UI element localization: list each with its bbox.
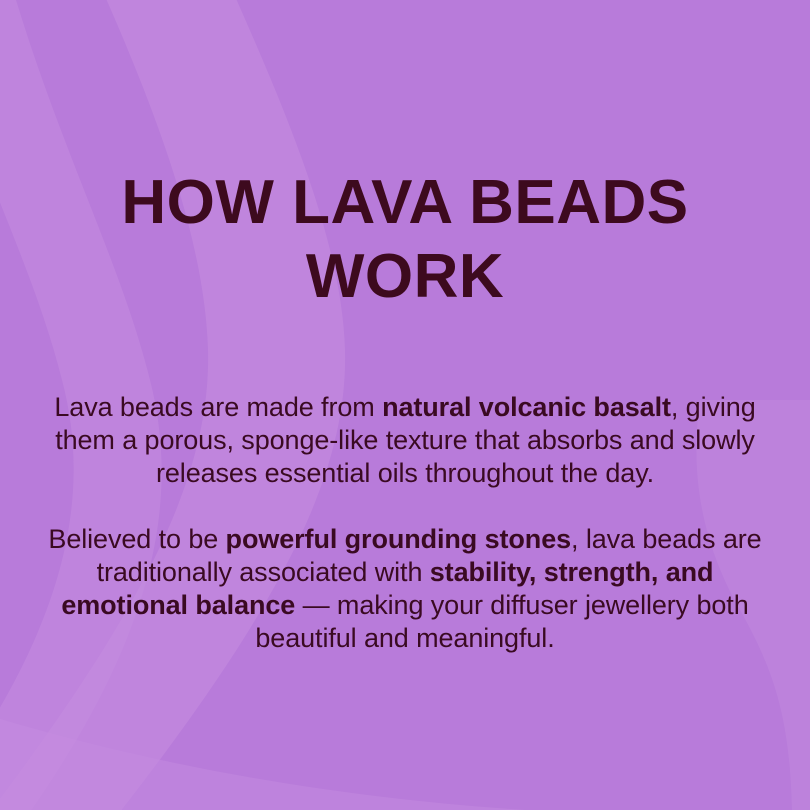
emphasis-run: natural volcanic basalt <box>382 392 671 422</box>
body-copy: Lava beads are made from natural volcani… <box>35 314 775 682</box>
page-title: HOW LAVA BEADS WORK <box>35 0 775 314</box>
text-run: Lava beads are made from <box>54 392 382 422</box>
content-stack: HOW LAVA BEADS WORK Lava beads are made … <box>0 0 810 810</box>
title-line-1: HOW LAVA BEADS <box>35 166 775 240</box>
paragraph-meaning: Believed to be powerful grounding stones… <box>35 523 775 655</box>
poster-canvas: HOW LAVA BEADS WORK Lava beads are made … <box>0 0 810 810</box>
paragraph-composition: Lava beads are made from natural volcani… <box>35 391 775 490</box>
title-line-2: WORK <box>35 240 775 314</box>
text-run: Believed to be <box>48 524 225 554</box>
text-run: — making your diffuser jewellery both be… <box>255 590 748 653</box>
emphasis-run: powerful grounding stones <box>226 524 571 554</box>
